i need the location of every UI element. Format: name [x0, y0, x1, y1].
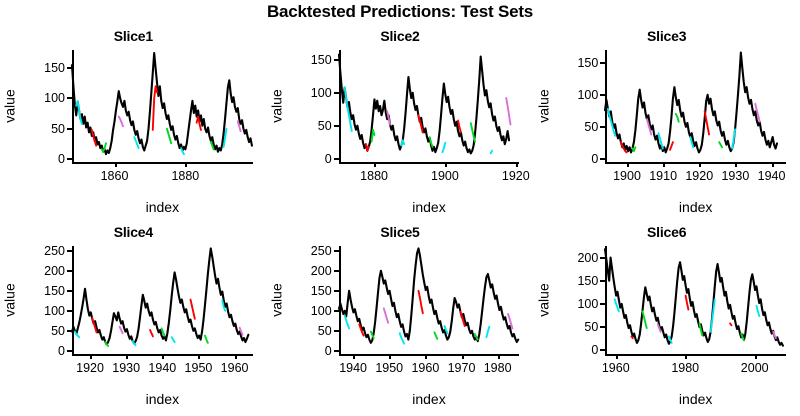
y-axis-label: value [2, 50, 18, 162]
series-layer [72, 50, 253, 162]
prediction-segment [633, 147, 636, 151]
subplot-slice2: Slice2valueindex050100150188019001920 [267, 24, 534, 220]
actual-series-line [605, 249, 783, 345]
plot-area: 05010015020025019401950196019701980 [339, 246, 520, 354]
x-tick-mark [126, 354, 128, 359]
prediction-segment [418, 291, 422, 313]
prediction-segment [632, 336, 633, 338]
x-axis-label: index [72, 391, 253, 407]
subplot-title: Slice6 [533, 224, 800, 240]
y-tick-label: 150 [311, 285, 332, 298]
plot-area: 050100150188019001920 [339, 50, 520, 162]
prediction-segment [167, 129, 171, 144]
x-axis-spine [72, 162, 253, 164]
subplot-title: Slice3 [533, 28, 800, 44]
series-layer [72, 246, 253, 354]
prediction-segment [119, 117, 123, 127]
y-tick-label: 0 [325, 345, 332, 358]
y-tick-label: 100 [577, 89, 598, 102]
x-tick-mark [462, 354, 464, 359]
prediction-segment [730, 323, 731, 325]
x-axis-spine [605, 162, 786, 164]
prediction-segment [153, 86, 157, 130]
y-tick-label: 100 [577, 298, 598, 311]
x-tick-label: 1880 [171, 170, 199, 183]
y-tick-label: 250 [44, 245, 65, 258]
y-tick-label: 250 [311, 245, 332, 258]
plot-area: 05010015018601880 [72, 50, 253, 162]
y-tick-label: 0 [591, 344, 598, 357]
x-tick-mark [115, 162, 117, 167]
prediction-segment [490, 151, 491, 154]
actual-series-line [339, 55, 509, 154]
x-tick-label: 1920 [502, 170, 530, 183]
prediction-segment [434, 332, 437, 338]
y-tick-label: 150 [311, 54, 332, 67]
x-tick-mark [516, 162, 518, 167]
x-tick-label: 1960 [602, 362, 630, 375]
x-tick-label: 1880 [360, 170, 388, 183]
x-tick-label: 1860 [101, 170, 129, 183]
series-layer [605, 246, 786, 354]
x-tick-mark [90, 354, 92, 359]
x-tick-mark [162, 354, 164, 359]
x-axis-label: index [339, 199, 520, 215]
x-tick-label: 1930 [721, 170, 749, 183]
x-axis-spine [339, 162, 520, 164]
prediction-segment [383, 308, 387, 322]
x-tick-mark [699, 162, 701, 167]
x-tick-mark [735, 162, 737, 167]
y-tick-label: 100 [311, 305, 332, 318]
x-tick-mark [498, 354, 500, 359]
y-tick-label: 50 [318, 325, 332, 338]
subplot-slice6: Slice6valueindex050100150200196019802000 [533, 220, 800, 416]
y-axis-label: value [535, 50, 551, 162]
y-tick-label: 50 [584, 121, 598, 134]
prediction-segment [120, 327, 123, 333]
x-tick-mark [389, 354, 391, 359]
y-tick-label: 100 [44, 305, 65, 318]
x-tick-mark [445, 162, 447, 167]
prediction-segment [705, 111, 709, 134]
series-layer [339, 246, 520, 354]
y-tick-label: 50 [51, 123, 65, 136]
x-tick-label: 1940 [148, 362, 176, 375]
figure-root: Backtested Predictions: Test Sets Slice1… [0, 0, 800, 416]
prediction-segment [670, 142, 673, 150]
y-tick-label: 200 [44, 265, 65, 278]
y-axis-label: value [535, 246, 551, 354]
y-tick-label: 100 [311, 87, 332, 100]
prediction-segment [172, 337, 175, 342]
x-tick-label: 2000 [741, 362, 769, 375]
y-tick-label: 150 [577, 57, 598, 70]
subplot-slice1: Slice1valueindex05010015018601880 [0, 24, 267, 220]
x-tick-label: 1910 [649, 170, 677, 183]
figure-title: Backtested Predictions: Test Sets [0, 2, 800, 22]
x-tick-label: 1980 [671, 362, 699, 375]
x-tick-mark [685, 354, 687, 359]
x-tick-label: 1940 [758, 170, 786, 183]
x-tick-label: 1960 [221, 362, 249, 375]
prediction-segment [371, 130, 374, 142]
y-tick-label: 50 [51, 325, 65, 338]
x-tick-label: 1920 [685, 170, 713, 183]
series-layer [605, 50, 786, 162]
y-axis-label: value [269, 246, 285, 354]
series-layer [339, 50, 520, 162]
plot-area: 050100150200196019802000 [605, 246, 786, 354]
y-tick-label: 0 [58, 345, 65, 358]
x-tick-mark [374, 162, 376, 167]
x-tick-label: 1970 [448, 362, 476, 375]
x-tick-mark [627, 162, 629, 167]
x-tick-label: 1980 [484, 362, 512, 375]
x-axis-label: index [605, 199, 786, 215]
x-axis-label: index [339, 391, 520, 407]
x-axis-spine [339, 354, 520, 356]
x-tick-label: 1920 [76, 362, 104, 375]
prediction-segment [643, 311, 647, 328]
x-tick-mark [198, 354, 200, 359]
y-tick-label: 150 [577, 275, 598, 288]
y-tick-label: 50 [318, 120, 332, 133]
actual-series-line [72, 248, 248, 344]
subplot-title: Slice4 [0, 224, 267, 240]
prediction-segment [442, 143, 445, 152]
plot-area: 05010015020025019201930194019501960 [72, 246, 253, 354]
x-tick-mark [616, 354, 618, 359]
x-tick-label: 1900 [431, 170, 459, 183]
plot-area: 05010015019001910192019301940 [605, 50, 786, 162]
prediction-segment [150, 330, 153, 336]
y-tick-label: 150 [44, 62, 65, 75]
prediction-segment [720, 142, 723, 147]
x-tick-label: 1940 [339, 362, 367, 375]
subplot-title: Slice2 [267, 28, 534, 44]
y-tick-label: 0 [58, 153, 65, 166]
prediction-segment [205, 336, 208, 343]
x-axis-label: index [605, 391, 786, 407]
prediction-segment [401, 140, 404, 145]
actual-series-line [339, 248, 518, 342]
x-tick-label: 1960 [411, 362, 439, 375]
x-tick-label: 1950 [375, 362, 403, 375]
prediction-segment [676, 114, 679, 122]
x-tick-label: 1930 [112, 362, 140, 375]
x-tick-mark [425, 354, 427, 359]
subplot-slice5: Slice5valueindex050100150200250194019501… [267, 220, 534, 416]
prediction-segment [506, 98, 510, 124]
y-tick-label: 50 [584, 321, 598, 334]
subplot-title: Slice5 [267, 224, 534, 240]
prediction-segment [686, 296, 689, 310]
y-tick-label: 150 [44, 285, 65, 298]
prediction-segment [757, 306, 760, 316]
y-tick-label: 200 [577, 252, 598, 265]
subplot-grid: Slice1valueindex05010015018601880Slice2v… [0, 24, 800, 416]
subplot-title: Slice1 [0, 28, 267, 44]
y-tick-label: 100 [44, 92, 65, 105]
x-axis-label: index [72, 199, 253, 215]
x-tick-label: 1900 [613, 170, 641, 183]
x-tick-label: 1950 [185, 362, 213, 375]
x-tick-mark [235, 354, 237, 359]
x-tick-mark [772, 162, 774, 167]
x-tick-mark [755, 354, 757, 359]
prediction-segment [399, 333, 403, 343]
x-tick-mark [353, 354, 355, 359]
prediction-segment [486, 327, 489, 337]
y-axis-label: value [269, 50, 285, 162]
x-tick-mark [185, 162, 187, 167]
subplot-slice3: Slice3valueindex050100150190019101920193… [533, 24, 800, 220]
prediction-segment [191, 300, 195, 319]
prediction-segment [344, 316, 348, 329]
x-axis-spine [605, 354, 786, 356]
y-tick-label: 200 [311, 265, 332, 278]
y-axis-label: value [2, 246, 18, 354]
x-tick-mark [663, 162, 665, 167]
y-tick-label: 0 [325, 153, 332, 166]
y-tick-label: 0 [591, 153, 598, 166]
subplot-slice4: Slice4valueindex050100150200250192019301… [0, 220, 267, 416]
